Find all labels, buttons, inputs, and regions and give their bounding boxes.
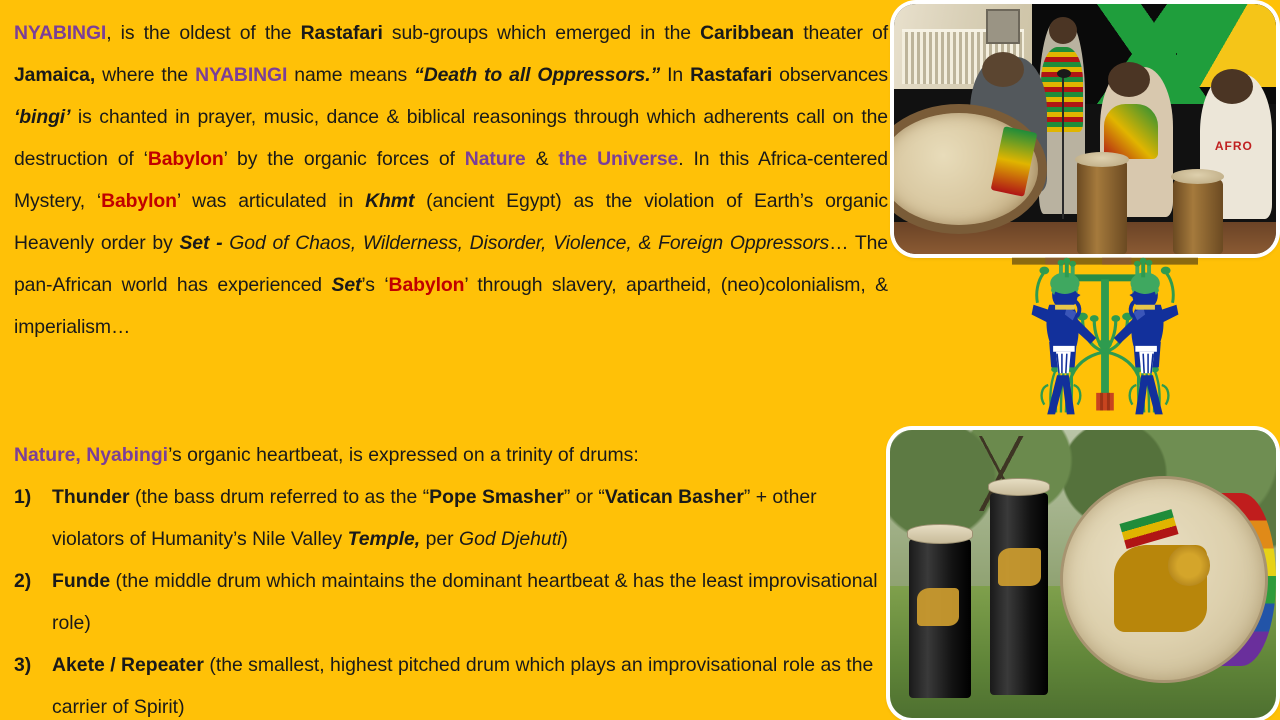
text-run-7: observances xyxy=(772,64,888,86)
text-run-6: In xyxy=(660,64,690,86)
thunder-run-1: (the bass drum referred to as the “ xyxy=(130,486,430,508)
list-marker-2: 2) xyxy=(14,560,44,602)
nyabingi-drummers-photo: AFRO xyxy=(894,4,1276,254)
funde-description: (the middle drum which maintains the dom… xyxy=(52,570,878,634)
term-the-universe: the Universe xyxy=(558,148,678,170)
akete-drum-body xyxy=(1173,179,1223,254)
term-caribbean: Caribbean xyxy=(700,22,794,44)
list-item-akete-repeater: 3)Akete / Repeater (the smallest, highes… xyxy=(14,644,888,720)
funde-drum-head xyxy=(1075,152,1128,167)
drum-name-akete-repeater: Akete / Repeater xyxy=(52,654,204,676)
term-rastafari-1: Rastafari xyxy=(301,22,383,44)
term-nature: Nature xyxy=(465,148,526,170)
funde-drum-shell xyxy=(990,493,1048,695)
term-rastafari-2: Rastafari xyxy=(690,64,772,86)
sema-tawy-svg xyxy=(1012,256,1198,424)
bass-drummer-head xyxy=(982,52,1024,87)
funde-drum-body xyxy=(1077,159,1127,254)
drum-name-thunder: Thunder xyxy=(52,486,130,508)
term-temple: Temple, xyxy=(348,528,421,550)
term-babylon-1: Babylon xyxy=(148,148,224,170)
singer-head xyxy=(1049,17,1078,45)
text-run-2: sub-groups which emerged in the xyxy=(383,22,700,44)
nickname-pope-smasher: Pope Smasher xyxy=(429,486,564,508)
text-run-12: ’ was articulated in xyxy=(177,190,365,212)
trinity-of-drums-list: 1)Thunder (the bass drum referred to as … xyxy=(14,476,888,720)
term-set-2: Set xyxy=(331,274,361,296)
term-nyabingi-1: NYABINGI xyxy=(14,22,106,44)
lion-of-judah-head xyxy=(1168,545,1210,585)
akete-drum-head xyxy=(1171,169,1224,184)
term-bingi: ‘bingi’ xyxy=(14,106,70,128)
term-babylon-2: Babylon xyxy=(101,190,177,212)
list-item-funde: 2)Funde (the middle drum which maintains… xyxy=(14,560,888,644)
term-khmt: Khmt xyxy=(365,190,414,212)
slide-canvas: NYABINGI, is the oldest of the Rastafari… xyxy=(0,0,1280,720)
rasta-print-shirt xyxy=(1104,104,1157,159)
term-god-djehuti: God Djehuti xyxy=(459,528,561,550)
term-set: Set - xyxy=(179,232,222,254)
thunder-run-4: per xyxy=(420,528,459,550)
text-run-10: & xyxy=(526,148,559,170)
paragraph-nyabingi-origins: NYABINGI, is the oldest of the Rastafari… xyxy=(14,12,888,390)
text-run-9: ’ by the organic forces of xyxy=(224,148,465,170)
text-run-5: name means xyxy=(287,64,414,86)
term-nyabingi-2: NYABINGI xyxy=(195,64,287,86)
funde-drum-skin xyxy=(988,478,1050,497)
text-content-column: NYABINGI, is the oldest of the Rastafari… xyxy=(14,12,888,720)
paragraph-gap xyxy=(14,390,888,434)
lion-of-judah-emblem-small-1 xyxy=(917,588,959,625)
drum-name-funde: Funde xyxy=(52,570,110,592)
thunder-run-5: ) xyxy=(561,528,567,550)
conga-drummer-head xyxy=(1108,62,1150,97)
text-run-16: ’s ‘ xyxy=(361,274,388,296)
drums-intro-line: Nature, Nyabingi’s organic heartbeat, is… xyxy=(14,434,888,476)
term-babylon-3: Babylon xyxy=(389,274,465,296)
afro-shirt-text: AFRO xyxy=(1215,139,1253,153)
text-run-1: , is the oldest of the xyxy=(106,22,300,44)
akete-drum-skin xyxy=(907,524,973,544)
text-run-3: theater of xyxy=(794,22,888,44)
list-marker-3: 3) xyxy=(14,644,44,686)
akete-drummer-head xyxy=(1211,69,1253,104)
microphone-icon xyxy=(1057,69,1071,78)
nickname-vatican-basher: Vatican Basher xyxy=(605,486,744,508)
epithet-set-domains: God of Chaos, Wilderness, Disorder, Viol… xyxy=(229,232,829,254)
quote-death-to-all-oppressors: “Death to all Oppressors.” xyxy=(414,64,660,86)
photo-window xyxy=(986,9,1020,44)
microphone-stand xyxy=(1062,74,1064,219)
term-nature-nyabingi: Nature, Nyabingi xyxy=(14,444,168,466)
term-jamaica: Jamaica, xyxy=(14,64,95,86)
rastafari-trinity-drums-photo xyxy=(890,430,1276,718)
list-item-thunder: 1)Thunder (the bass drum referred to as … xyxy=(14,476,888,560)
list-marker-1: 1) xyxy=(14,476,44,518)
lion-of-judah-emblem-small-2 xyxy=(998,548,1040,585)
thunder-run-2: ” or “ xyxy=(564,486,605,508)
drums-intro-tail: ’s organic heartbeat, is expressed on a … xyxy=(168,444,639,466)
sema-tawy-hieroglyph-illustration xyxy=(1012,256,1198,424)
text-run-4: where the xyxy=(95,64,195,86)
